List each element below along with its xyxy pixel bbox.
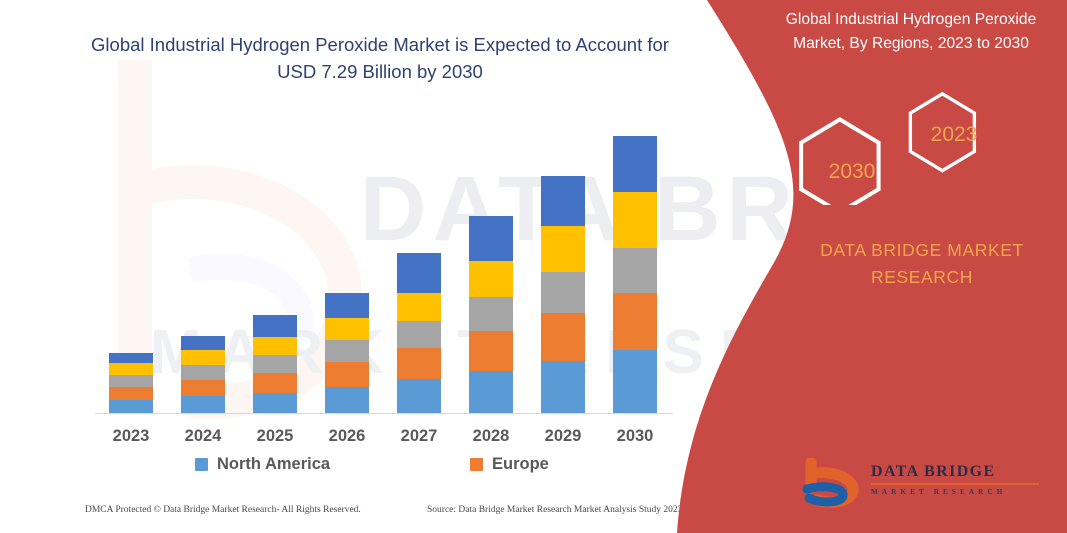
bar-segment-europe xyxy=(397,348,441,379)
bar-2025 xyxy=(253,315,297,413)
bar-segment-north-america xyxy=(469,371,513,413)
x-label-2028: 2028 xyxy=(455,427,527,446)
bar-segment-europe xyxy=(109,387,153,400)
bar-segment-series-4 xyxy=(613,192,657,248)
bar-segment-series-5 xyxy=(613,136,657,192)
bar-2030 xyxy=(613,136,657,413)
bar-segment-series-5 xyxy=(325,293,369,318)
bar-segment-north-america xyxy=(397,379,441,413)
brand-panel: Global Industrial Hydrogen Peroxide Mark… xyxy=(677,0,1067,533)
bar-segment-north-america xyxy=(109,400,153,413)
bar-segment-series-3 xyxy=(397,321,441,348)
infographic-page: DATA BRIDGE MARKET RESEARCH Global Indus… xyxy=(0,0,1067,533)
bar-2027 xyxy=(397,253,441,413)
bar-segment-north-america xyxy=(613,350,657,413)
bar-segment-series-3 xyxy=(181,365,225,380)
x-label-2023: 2023 xyxy=(95,427,167,446)
bar-segment-series-5 xyxy=(469,216,513,261)
legend-swatch-icon xyxy=(195,458,208,471)
hexagon-2023-label: 2023 xyxy=(931,123,978,146)
bar-segment-series-5 xyxy=(109,353,153,363)
x-label-2027: 2027 xyxy=(383,427,455,446)
legend-item-north-america[interactable]: North America xyxy=(195,455,330,474)
logo-title: DATA BRIDGE xyxy=(871,462,1051,481)
bar-segment-europe xyxy=(469,331,513,371)
bar-2026 xyxy=(325,293,369,413)
brand-line-2: RESEARCH xyxy=(797,264,1047,291)
x-axis-line xyxy=(95,413,673,414)
logo-b-icon xyxy=(799,458,869,508)
footer-source: Source: Data Bridge Market Research Mark… xyxy=(427,505,682,515)
logo-divider xyxy=(871,483,1039,485)
bar-segment-europe xyxy=(613,293,657,350)
legend-swatch-icon xyxy=(470,458,483,471)
brand-line-1: DATA BRIDGE MARKET xyxy=(797,237,1047,264)
hexagon-badges: 2030 2023 xyxy=(767,90,1067,205)
x-label-2024: 2024 xyxy=(167,427,239,446)
bar-segment-series-5 xyxy=(253,315,297,337)
bar-segment-north-america xyxy=(253,393,297,413)
panel-title: Global Industrial Hydrogen Peroxide Mark… xyxy=(765,8,1057,56)
brand-name: DATA BRIDGE MARKET RESEARCH xyxy=(797,237,1047,291)
bar-segment-series-3 xyxy=(613,248,657,293)
bar-segment-europe xyxy=(541,313,585,361)
footer-copyright: DMCA Protected © Data Bridge Market Rese… xyxy=(85,505,361,515)
footer: DMCA Protected © Data Bridge Market Rese… xyxy=(0,505,720,529)
x-label-2025: 2025 xyxy=(239,427,311,446)
x-axis-labels: 20232024202520262027202820292030 xyxy=(95,427,675,453)
chart-legend: North AmericaEurope xyxy=(95,455,675,481)
hexagons-svg: 2030 2023 xyxy=(767,90,1067,205)
bar-segment-series-5 xyxy=(397,253,441,293)
bar-segment-series-3 xyxy=(469,297,513,331)
bar-segment-series-5 xyxy=(541,176,585,226)
bar-segment-series-4 xyxy=(397,293,441,321)
bar-segment-series-4 xyxy=(109,363,153,375)
bar-segment-series-3 xyxy=(325,340,369,362)
bar-segment-series-5 xyxy=(181,336,225,350)
bar-segment-series-4 xyxy=(469,261,513,297)
bar-segment-europe xyxy=(181,380,225,396)
legend-label: Europe xyxy=(492,455,549,474)
bar-chart-plot xyxy=(95,110,675,413)
x-label-2030: 2030 xyxy=(599,427,671,446)
bar-segment-north-america xyxy=(541,361,585,413)
chart-title: Global Industrial Hydrogen Peroxide Mark… xyxy=(70,31,690,85)
bar-segment-north-america xyxy=(325,387,369,413)
bar-2024 xyxy=(181,336,225,413)
bar-segment-series-3 xyxy=(541,272,585,313)
bar-2029 xyxy=(541,176,585,413)
bar-2023 xyxy=(109,353,153,413)
bar-2028 xyxy=(469,216,513,413)
hexagon-2030-label: 2030 xyxy=(829,160,876,183)
bar-segment-series-4 xyxy=(325,318,369,340)
bar-segment-europe xyxy=(325,362,369,387)
bar-segment-europe xyxy=(253,373,297,393)
bar-segment-north-america xyxy=(181,396,225,413)
bar-segment-series-3 xyxy=(109,375,153,387)
bar-segment-series-4 xyxy=(253,337,297,355)
x-label-2029: 2029 xyxy=(527,427,599,446)
logo-text-block: DATA BRIDGE MARKET RESEARCH xyxy=(871,462,1051,497)
logo-subtitle: MARKET RESEARCH xyxy=(871,487,1051,497)
company-logo: DATA BRIDGE MARKET RESEARCH xyxy=(799,458,1049,510)
bar-segment-series-4 xyxy=(541,226,585,272)
bar-segment-series-4 xyxy=(181,350,225,365)
bar-segment-series-3 xyxy=(253,355,297,373)
legend-item-europe[interactable]: Europe xyxy=(470,455,549,474)
x-label-2026: 2026 xyxy=(311,427,383,446)
legend-label: North America xyxy=(217,455,330,474)
